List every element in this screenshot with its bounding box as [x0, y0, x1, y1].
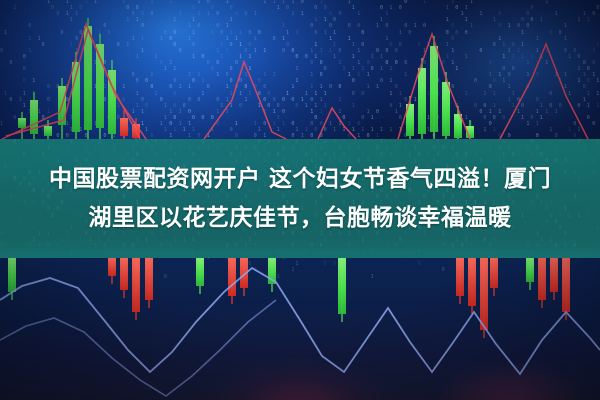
headline-line-2: 湖里区以花艺庆佳节，台胞畅谈幸福温暖 — [89, 199, 512, 238]
headline-line-1: 中国股票配资网开户 这个妇女节香气四溢！厦门 — [49, 160, 551, 199]
banner-image: 1111011101111101101111101000000100010101… — [0, 0, 600, 400]
headline-band: 中国股票配资网开户 这个妇女节香气四溢！厦门 湖里区以花艺庆佳节，台胞畅谈幸福温… — [0, 139, 600, 258]
